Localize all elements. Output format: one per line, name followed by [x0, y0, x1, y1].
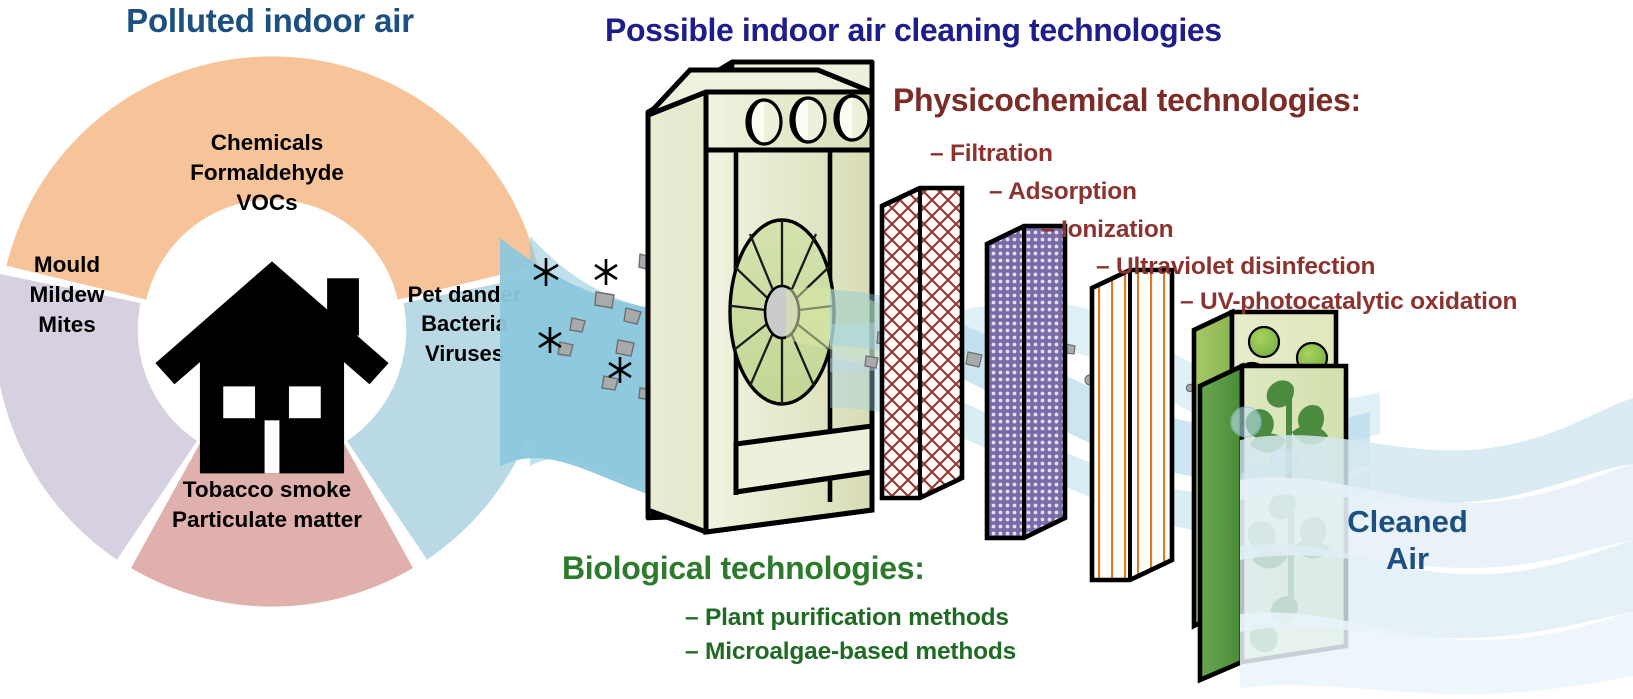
physicochemical-item-adsorption: – Adsorption: [989, 178, 1137, 206]
cleaned-air-label: Cleaned Air: [1320, 504, 1495, 577]
physicochemical-item-uv-disinfection: – Ultraviolet disinfection: [1096, 253, 1375, 281]
label-line: Mildew: [0, 280, 152, 310]
biological-item-microalgae: – Microalgae-based methods: [685, 638, 1016, 666]
physicochemical-heading: Physicochemical technologies:: [893, 82, 1361, 119]
label-line: Particulate matter: [112, 505, 422, 535]
figure-canvas: Polluted indoor air Possible indoor air …: [0, 0, 1633, 699]
label-line: VOCs: [122, 188, 412, 218]
donut-label-smoke: Tobacco smoke Particulate matter: [112, 475, 422, 535]
label-line: Mites: [0, 310, 152, 340]
label-line: Tobacco smoke: [112, 475, 422, 505]
adsorption-filter-panel[interactable]: [987, 226, 1065, 538]
physicochemical-item-filtration: – Filtration: [930, 140, 1053, 168]
cabinet-vent-icons: [747, 96, 869, 144]
donut-label-mould: Mould Mildew Mites: [0, 250, 152, 340]
biological-item-plant-purification: – Plant purification methods: [685, 604, 1009, 632]
cleaned-air-line-1: Cleaned: [1320, 504, 1495, 541]
label-line: Chemicals: [122, 128, 412, 158]
label-line: Mould: [0, 250, 152, 280]
ionization-filter-panel[interactable]: [1092, 270, 1172, 580]
air-cleaning-illustration: [500, 40, 1633, 699]
physicochemical-item-ionization: – Ionization: [1041, 216, 1173, 244]
left-panel-title: Polluted indoor air: [60, 2, 480, 40]
cleaned-air-line-2: Air: [1320, 541, 1495, 578]
donut-label-chemicals: Chemicals Formaldehyde VOCs: [122, 128, 412, 218]
mesh-filter-panel[interactable]: [882, 188, 962, 498]
biological-heading: Biological technologies:: [562, 550, 925, 587]
pollutant-donut-chart: Chemicals Formaldehyde VOCs Pet dander B…: [0, 50, 552, 610]
label-line: Formaldehyde: [122, 158, 412, 188]
physicochemical-item-uv-photocatalytic: – UV-photocatalytic oxidation: [1180, 288, 1517, 316]
